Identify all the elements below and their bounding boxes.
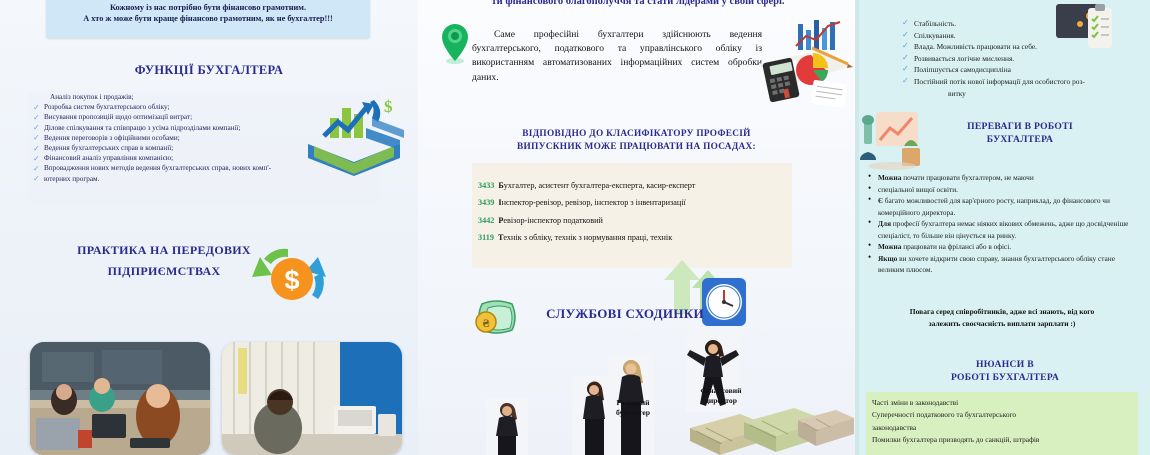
check-icon: ✓ xyxy=(33,124,40,132)
check-icon: ✓ xyxy=(33,134,40,142)
profession-title: ухгалтер, асистент бухгалтера-експерта, … xyxy=(504,181,696,190)
office-photo-desk-worker xyxy=(222,342,402,455)
advantage-text: спеціальної вищої освіти. xyxy=(878,185,958,194)
function-text: ютерних програм. xyxy=(44,175,99,183)
function-text: Фінансовий аналіз управління компанією; xyxy=(44,154,173,162)
advantages-title-line-1: ПЕРЕВАГИ В РОБОТІ xyxy=(920,120,1120,133)
nuances-title-line-1: НЮАНСИ В xyxy=(880,358,1130,371)
function-text: Ведення бухгалтерських справ в компанії; xyxy=(44,144,173,152)
advantage-item: Якщо ви хочете відкрити свою справу, зна… xyxy=(866,253,1138,276)
profession-code: 3119 xyxy=(478,233,494,242)
advantage-text: ви хочете відкрити свою справу, знання б… xyxy=(878,254,1115,275)
function-text: Розробка систем бухгалтерського обліку; xyxy=(44,103,170,111)
advantage-text: працювати на фрілансі або в офісі. xyxy=(901,242,1011,251)
nuances-box: Часті зміни в законодавстві Суперечності… xyxy=(866,392,1138,455)
poster-top-banner: ти фінансового благополуччя та стати лід… xyxy=(438,0,838,9)
profession-codes-list: 3433Бухгалтер, асистент бухгалтера-експе… xyxy=(472,163,792,247)
advantage-item: Для професії бухгалтера немає ніяких вік… xyxy=(866,218,1138,241)
career-figure-junior xyxy=(486,398,528,455)
check-icon: ✓ xyxy=(33,145,40,153)
function-text: Висування пропозицій щодо оптимізації ви… xyxy=(44,113,192,121)
section-title-functions: ФУНКЦІЇ БУХГАЛТЕРА xyxy=(0,63,418,78)
nuance-item: законодавства xyxy=(872,422,1138,434)
section-title-career-ladder: СЛУЖБОВІ СХОДИНКИ xyxy=(500,306,750,322)
nuance-item: Помилки бухгалтера призводять до санкцій… xyxy=(872,434,1138,446)
intro-text-box: існувати у майбутньому, навіть якщо й зм… xyxy=(46,0,370,38)
classifier-title-line-2: ВИПУСКНИК МОЖЕ ПРАЦЮВАТИ НА ПОСАДАХ: xyxy=(418,141,855,154)
advantage-text: почати працювати бухгалтером, не маючи xyxy=(901,173,1033,182)
advantage-top-item: ✓Постійний потік нової інформації для ос… xyxy=(902,76,1130,99)
function-text: Аналіз покупок і продажів; xyxy=(50,93,133,101)
respect-note: Повага серед співробітників, адже всі зн… xyxy=(866,306,1138,329)
svg-text:$: $ xyxy=(284,265,299,295)
svg-text:₴: ₴ xyxy=(483,316,490,330)
respect-note-line-2: залежить своєчасність виплати зарплати :… xyxy=(866,318,1138,330)
nuances-title-line-2: РОБОТІ БУХГАЛТЕРА xyxy=(880,371,1130,384)
check-icon: ✓ xyxy=(902,77,909,85)
advantage-top-text: Спілкування. xyxy=(914,31,956,40)
profession-code: 3439 xyxy=(478,198,494,207)
advantage-top-text: Розвивається логічне мислення. xyxy=(914,54,1014,63)
label-chief-accountant: Головний бухгалтер xyxy=(598,398,668,418)
intro-line-2: Кожному із нас потрібно бути фінансово г… xyxy=(52,2,364,14)
calculator-charts-icon xyxy=(752,18,856,114)
check-icon: ✓ xyxy=(33,165,40,173)
profession-title: нспектор-ревізор, ревізор, інспектор з і… xyxy=(502,198,686,207)
profession-code: 3442 xyxy=(478,216,494,225)
profession-codes-box: 3433Бухгалтер, асистент бухгалтера-експе… xyxy=(472,163,792,268)
location-pin-icon xyxy=(440,22,470,64)
nuances-list: Часті зміни в законодавстві Суперечності… xyxy=(866,392,1138,447)
check-icon: ✓ xyxy=(902,42,909,50)
office-photo-open-space xyxy=(30,342,210,455)
profession-code-row: 3442Ревізор-інспектор податковий xyxy=(478,212,792,229)
advantage-top-text-continuation: витку xyxy=(914,88,1130,100)
advantage-top-item: ✓Розвивається логічне мислення. xyxy=(902,53,1130,65)
advantage-text: професії бухгалтера немає ніяких вікових… xyxy=(878,219,1128,240)
advantage-item: Є багато можливостей для кар'єрного рост… xyxy=(866,195,1138,218)
function-text: Ведення переговорів з офіційними особами… xyxy=(44,134,180,142)
advantage-text: багато можливостей для кар'єрного росту,… xyxy=(878,196,1110,217)
label-chief-accountant-line-1: Головний xyxy=(598,398,668,408)
section-title-nuances: НЮАНСИ В РОБОТІ БУХГАЛТЕРА xyxy=(880,358,1130,384)
check-icon: ✓ xyxy=(33,104,40,112)
open-book-growth-chart-icon: $ xyxy=(300,88,412,180)
function-text: Впровадження нових методів ведення бухга… xyxy=(44,164,271,172)
poster-root: ти фінансового благополуччя та стати лід… xyxy=(0,0,1150,455)
check-icon: ✓ xyxy=(902,31,909,39)
function-text: Ділове спілкування та співпрацю з усіма … xyxy=(44,124,241,132)
check-icon: ✓ xyxy=(902,19,909,27)
cash-stacks-icon xyxy=(686,400,856,455)
profession-code-row: 3433Бухгалтер, асистент бухгалтера-експе… xyxy=(478,177,792,194)
label-chief-accountant-line-2: бухгалтер xyxy=(598,408,668,418)
profession-code: 3433 xyxy=(478,181,494,190)
advantage-top-text: Поліпшується самодисципліна xyxy=(914,65,1011,74)
label-finance-director-line-1: Фінансовий xyxy=(684,386,758,396)
section-title-classifier: ВІДПОВІДНО ДО КЛАСИФІКАТОРУ ПРОФЕСІЙ ВИП… xyxy=(418,128,855,153)
check-icon: ✓ xyxy=(902,65,909,73)
respect-note-line-1: Повага серед співробітників, адже всі зн… xyxy=(866,306,1138,318)
advantage-item: Можна працювати на фрілансі або в офісі. xyxy=(866,241,1138,253)
advantage-top-text: Постійний потік нової інформації для осо… xyxy=(914,77,1085,86)
profession-title: евізор-інспектор податковий xyxy=(503,216,602,225)
dollar-exchange-cycle-icon: $ xyxy=(248,243,330,315)
intro-paragraph: Саме професійні бухгалтери здійснюють ве… xyxy=(472,28,762,85)
check-icon: ✓ xyxy=(33,114,40,122)
classifier-title-line-1: ВІДПОВІДНО ДО КЛАСИФІКАТОРУ ПРОФЕСІЙ xyxy=(418,128,855,141)
advantage-item: спеціальної вищої освіти. xyxy=(866,184,1138,196)
advantage-item: Можна почати працювати бухгалтером, не м… xyxy=(866,172,1138,184)
intro-paragraph-text: Саме професійні бухгалтери здійснюють ве… xyxy=(472,29,762,83)
profession-title: ехнік з обліку, технік з нормування прац… xyxy=(503,233,672,242)
svg-text:$: $ xyxy=(384,97,393,116)
advantage-lead: Для xyxy=(878,219,891,228)
advantage-top-text: Стабільність. xyxy=(914,19,956,28)
intro-line-3: А хто ж може бути краще фінансово грамот… xyxy=(52,13,364,25)
clipboard-checklist-icon xyxy=(1054,2,1116,52)
section-title-advantages: ПЕРЕВАГИ В РОБОТІ БУХГАЛТЕРА xyxy=(920,120,1120,146)
nuance-item: Суперечності податкового та бухгалтерськ… xyxy=(872,409,1138,421)
nuance-item: Часті зміни в законодавстві xyxy=(872,397,1138,409)
advantages-list: Можна почати працювати бухгалтером, не м… xyxy=(866,172,1138,276)
check-icon: ✓ xyxy=(33,155,40,163)
advantage-lead: Якщо xyxy=(878,254,897,263)
advantages-title-line-2: БУХГАЛТЕРА xyxy=(920,133,1120,146)
profession-code-row: 3119Технік з обліку, технік з нормування… xyxy=(478,229,792,246)
advantage-top-text: Влада. Можливість працювати на себе. xyxy=(914,42,1037,51)
advantage-top-item: ✓Поліпшується самодисципліна xyxy=(902,64,1130,76)
advantage-lead: Можна xyxy=(878,242,901,251)
advantage-lead: Можна xyxy=(878,173,901,182)
profession-code-row: 3439Інспектор-ревізор, ревізор, інспекто… xyxy=(478,194,792,211)
check-icon: ✓ xyxy=(33,175,40,183)
check-icon: ✓ xyxy=(902,54,909,62)
